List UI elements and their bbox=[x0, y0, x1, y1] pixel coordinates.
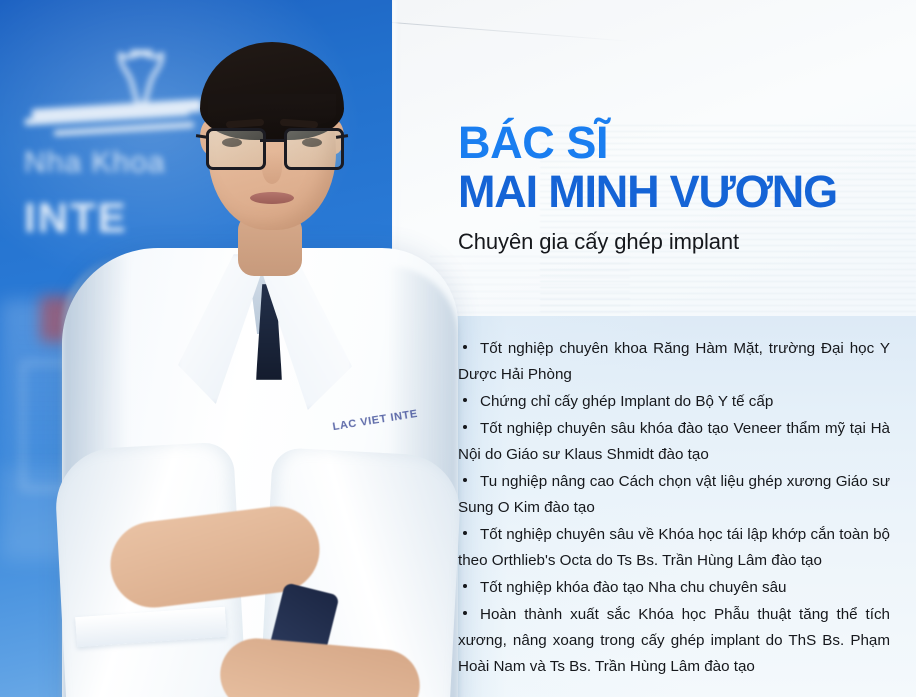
list-item-label: Tốt nghiệp khóa đào tạo Nha chu chuyên s… bbox=[458, 575, 890, 601]
list-item: Chứng chỉ cấy ghép Implant do Bộ Y tế cấ… bbox=[458, 389, 890, 415]
bullet-dot-icon bbox=[463, 425, 467, 429]
list-item: Hoàn thành xuất sắc Khóa học Phẫu thuật … bbox=[458, 602, 890, 680]
bullet-dot-icon bbox=[463, 584, 467, 588]
page-subtitle: Chuyên gia cấy ghép implant bbox=[458, 229, 888, 255]
list-item-label: Tu nghiệp nâng cao Cách chọn vật liệu gh… bbox=[458, 469, 890, 521]
title-line-2: MAI MINH VƯƠNG bbox=[458, 167, 888, 216]
bullet-dot-icon bbox=[463, 398, 467, 402]
list-item: Tu nghiệp nâng cao Cách chọn vật liệu gh… bbox=[458, 469, 890, 521]
credentials-list: Tốt nghiệp chuyên khoa Răng Hàm Mặt, trư… bbox=[458, 336, 890, 681]
bullet-dot-icon bbox=[463, 478, 467, 482]
bullet-dot-icon bbox=[463, 611, 467, 615]
title-line-1: BÁC SĨ bbox=[458, 118, 888, 167]
bullet-dot-icon bbox=[463, 531, 467, 535]
page-title: BÁC SĨ MAI MINH VƯƠNG bbox=[458, 118, 888, 216]
list-item-label: Tốt nghiệp chuyên khoa Răng Hàm Mặt, trư… bbox=[458, 336, 890, 388]
list-item-label: Hoàn thành xuất sắc Khóa học Phẫu thuật … bbox=[458, 602, 890, 680]
list-item: Tốt nghiệp khóa đào tạo Nha chu chuyên s… bbox=[458, 575, 890, 601]
list-item: Tốt nghiệp chuyên sâu khóa đào tạo Venee… bbox=[458, 416, 890, 468]
hair bbox=[200, 42, 344, 140]
eyeglass-temple-left bbox=[196, 134, 208, 139]
eyeglass-bridge bbox=[260, 139, 284, 142]
list-item-label: Tốt nghiệp chuyên sâu về Khóa học tái lậ… bbox=[458, 522, 890, 574]
eyeglasses-icon bbox=[206, 128, 338, 168]
list-item: Tốt nghiệp chuyên sâu về Khóa học tái lậ… bbox=[458, 522, 890, 574]
mouth bbox=[250, 192, 294, 204]
doctor-portrait: LAC VIET INTE bbox=[70, 16, 450, 697]
eyeglass-lens-left bbox=[206, 128, 266, 170]
headline-block: BÁC SĨ MAI MINH VƯƠNG Chuyên gia cấy ghé… bbox=[458, 118, 888, 255]
eyeglass-lens-right bbox=[284, 128, 344, 170]
list-item-label: Tốt nghiệp chuyên sâu khóa đào tạo Venee… bbox=[458, 416, 890, 468]
window-blinds-texture-secondary bbox=[430, 250, 630, 320]
list-item: Tốt nghiệp chuyên khoa Răng Hàm Mặt, trư… bbox=[458, 336, 890, 388]
bullet-dot-icon bbox=[463, 345, 467, 349]
list-item-label: Chứng chỉ cấy ghép Implant do Bộ Y tế cấ… bbox=[458, 389, 890, 415]
doctor-profile-poster: Nha Khoa INTE LAC VIET INTE bbox=[0, 0, 916, 697]
